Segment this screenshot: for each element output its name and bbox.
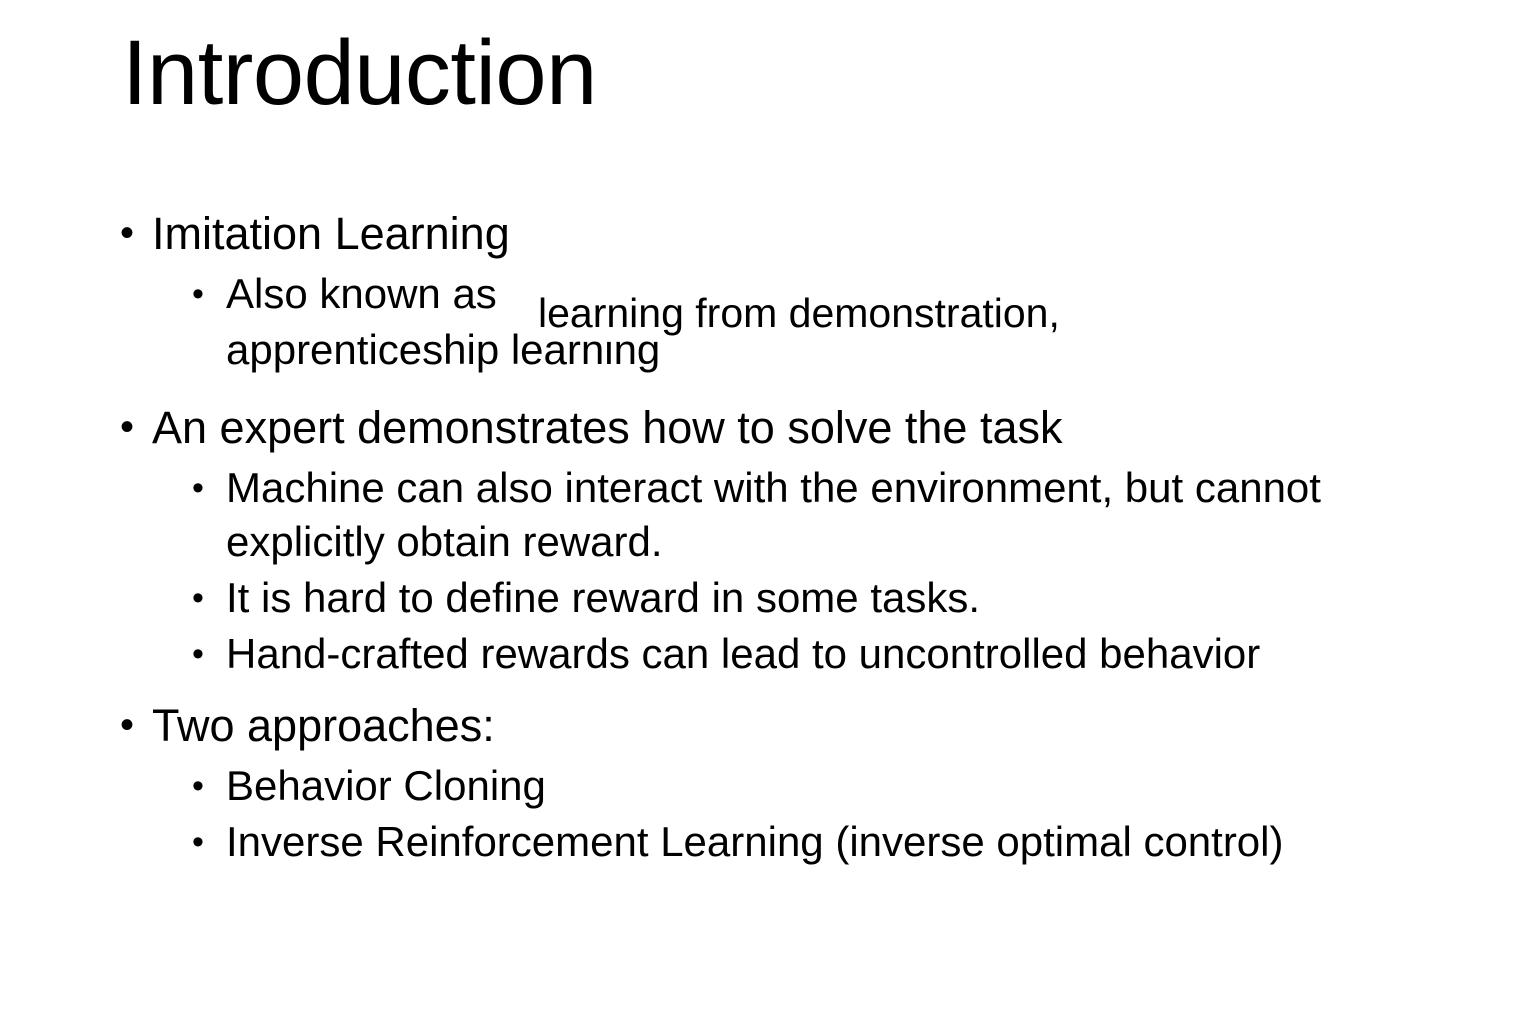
bullet-point-icon: • (120, 697, 152, 753)
bullet-label: Behavior Cloning (226, 759, 546, 813)
bullet-point-icon: • (120, 399, 152, 455)
bullet-label: Machine can also interact with the envir… (226, 461, 1426, 569)
bullet-label: Imitation Learning (152, 205, 510, 263)
bullet-item-level2: • It is hard to define reward in some ta… (0, 571, 1518, 625)
bullet-label: Also known as (226, 267, 497, 321)
bullet-label: Hand-crafted rewards can lead to uncontr… (226, 627, 1260, 681)
group-spacer (0, 379, 1518, 399)
bullet-point-icon: • (192, 815, 226, 869)
bullet-item-level2: • Machine can also interact with the env… (0, 461, 1518, 569)
bullet-item-level2: • Hand-crafted rewards can lead to uncon… (0, 627, 1518, 681)
slide-title: Introduction (122, 22, 597, 125)
bullet-item-level1: • Two approaches: (0, 697, 1518, 755)
bullet-label: An expert demonstrates how to solve the … (152, 399, 1062, 457)
presentation-slide: Introduction • Imitation Learning • Also… (0, 0, 1518, 1030)
bullet-point-icon: • (192, 267, 226, 321)
bullet-point-icon: • (192, 461, 226, 515)
bullet-item-level2: • Inverse Reinforcement Learning (invers… (0, 815, 1518, 869)
bullet-item-level1: • An expert demonstrates how to solve th… (0, 399, 1518, 457)
bullet-point-icon: • (192, 627, 226, 681)
overlay-text-box: learning from demonstration, (538, 288, 1060, 338)
group-spacer (0, 683, 1518, 697)
bullet-label: It is hard to define reward in some task… (226, 571, 980, 625)
bullet-label: Inverse Reinforcement Learning (inverse … (226, 815, 1284, 869)
bullet-item-level1: • Imitation Learning (0, 205, 1518, 263)
bullet-point-icon: • (192, 571, 226, 625)
bullet-point-icon: • (192, 759, 226, 813)
bullet-point-icon: • (120, 205, 152, 261)
bullet-item-level2: • Behavior Cloning (0, 759, 1518, 813)
bullet-label: Two approaches: (152, 697, 495, 755)
